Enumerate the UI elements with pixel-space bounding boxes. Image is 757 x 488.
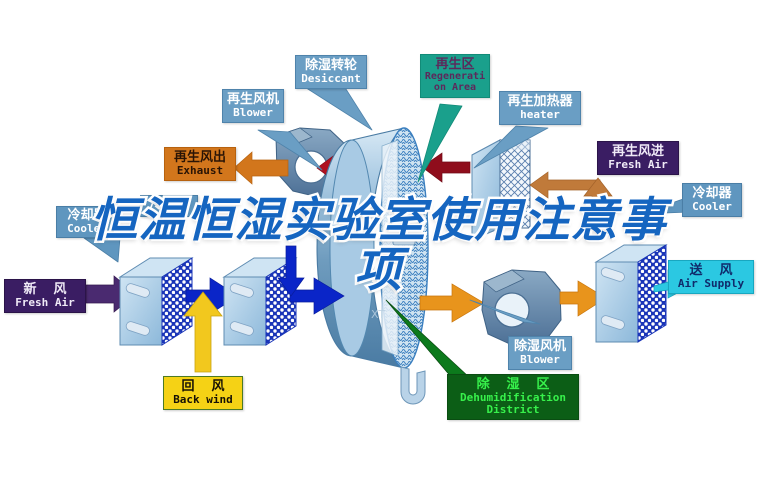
label-regeneration-blower[interactable]: 再生风机 Blower — [222, 89, 284, 123]
label-air-supply-en: Air Supply — [673, 278, 749, 290]
label-regen-fresh-air-en: Fresh Air — [602, 159, 674, 171]
label-back-wind[interactable]: 回风 Back wind — [163, 376, 243, 410]
label-exhaust[interactable]: 再生风出 Exhaust — [164, 147, 236, 181]
label-dehum-blower-cn: 除湿风机 — [513, 340, 567, 354]
label-regeneration-heater[interactable]: 再生加热器 heater — [499, 91, 581, 125]
label-cooler-right[interactable]: 冷却器 Cooler — [682, 183, 742, 217]
label-dehum-blower-en: Blower — [513, 354, 567, 366]
label-desiccant-rotor[interactable]: 除湿转轮 Desiccant — [295, 55, 367, 89]
label-cooler-right-en: Cooler — [687, 201, 737, 213]
regeneration-heater-coil — [472, 140, 530, 240]
label-regeneration-area-en2: on Area — [424, 83, 486, 94]
label-regeneration-heater-cn: 再生加热器 — [504, 95, 576, 109]
label-back-wind-cn: 回风 — [168, 380, 238, 394]
label-fresh-air-in[interactable]: 新风 Fresh Air — [4, 279, 86, 313]
label-cooler-right-cn: 冷却器 — [687, 187, 737, 201]
dehumidification-fan-housing — [482, 270, 561, 345]
label-air-supply-cn: 送风 — [673, 264, 749, 278]
label-cooler-left-2[interactable]: 冷却器 — [140, 195, 198, 217]
label-air-supply[interactable]: 送风 Air Supply — [668, 260, 754, 294]
watermark: XT — [371, 308, 385, 321]
cooling-coil-2 — [224, 258, 296, 345]
label-cooler-left-2-cn: 冷却器 — [145, 198, 193, 212]
label-exhaust-en: Exhaust — [169, 165, 231, 177]
label-fresh-air-in-en: Fresh Air — [9, 297, 81, 309]
label-back-wind-en: Back wind — [168, 394, 238, 406]
label-cooler-left-1-cn: 冷却器 — [61, 209, 113, 223]
label-dehum-district-en2: District — [452, 404, 574, 416]
label-dehumidification-blower[interactable]: 除湿风机 Blower — [508, 336, 572, 370]
label-dehumidification-district[interactable]: 除湿区 Dehumidification District — [447, 374, 579, 420]
label-regeneration-fresh-air-in[interactable]: 再生风进 Fresh Air — [597, 141, 679, 175]
supply-coil — [596, 245, 666, 342]
diagram-canvas: XT — [0, 0, 757, 488]
label-regeneration-heater-en: heater — [504, 109, 576, 121]
label-cooler-left-1[interactable]: 冷却器 Cooler — [56, 206, 118, 238]
rotor-out-arrow — [420, 284, 484, 322]
cooling-coil-1 — [120, 258, 192, 345]
label-exhaust-cn: 再生风出 — [169, 151, 231, 165]
label-regeneration-blower-cn: 再生风机 — [227, 93, 279, 107]
label-fresh-air-in-cn: 新风 — [9, 283, 81, 297]
label-desiccant-rotor-en: Desiccant — [300, 73, 362, 85]
label-cooler-left-1-en: Cooler — [61, 223, 113, 235]
desiccant-rotor-wheel: XT — [317, 128, 428, 368]
label-regen-fresh-air-cn: 再生风进 — [602, 145, 674, 159]
diagram-graphics: XT — [0, 0, 757, 488]
drain-pan — [401, 367, 425, 404]
label-dehum-district-cn: 除湿区 — [452, 378, 574, 392]
label-regeneration-area-cn: 再生区 — [424, 58, 486, 72]
label-desiccant-rotor-cn: 除湿转轮 — [300, 59, 362, 73]
label-regeneration-area[interactable]: 再生区 Regenerati on Area — [420, 54, 490, 98]
label-regeneration-blower-en: Blower — [227, 107, 279, 119]
